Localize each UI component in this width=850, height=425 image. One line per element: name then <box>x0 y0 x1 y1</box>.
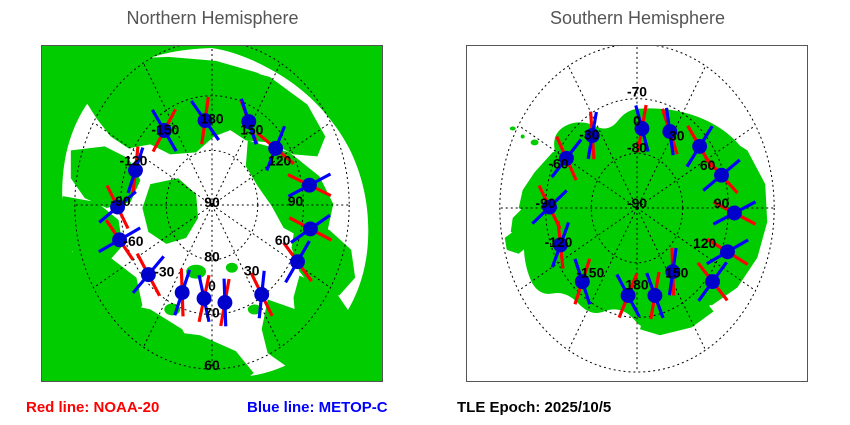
page-title-south: Southern Hemisphere <box>425 8 850 29</box>
satellite-marker <box>647 288 662 303</box>
satellite-marker <box>692 139 707 154</box>
longitude-label: 150 <box>240 121 263 137</box>
satellite-marker <box>302 178 317 193</box>
longitude-label: 120 <box>268 152 291 168</box>
south-polar-plot: -90-80-70-600306090120150180-150-120-90-… <box>467 46 807 381</box>
longitude-label: -30 <box>154 264 174 280</box>
longitude-label: -30 <box>579 126 599 142</box>
satellite-marker <box>175 285 190 300</box>
legend-red-line-noaa20: Red line: NOAA-20 <box>26 399 159 416</box>
longitude-label: -60 <box>123 233 143 249</box>
longitude-label: 30 <box>669 127 685 143</box>
satellite-marker <box>290 254 305 269</box>
panel-southern-hemisphere: Southern Hemisphere <box>425 0 850 390</box>
latitude-label: -70 <box>627 84 647 100</box>
longitude-label: 150 <box>665 265 688 281</box>
north-polar-plot: 908070600306090120150180-150-120-90-60-3… <box>42 46 382 381</box>
legend-blue-line-metopc: Blue line: METOP-C <box>247 399 388 416</box>
satellite-marker <box>720 244 735 259</box>
longitude-label: 60 <box>700 157 716 173</box>
latitude-label: -90 <box>627 195 647 211</box>
polar-tracks-figure: Northern Hemisphere <box>0 0 850 425</box>
plot-frame-north: 908070600306090120150180-150-120-90-60-3… <box>41 45 383 382</box>
legend: Red line: NOAA-20 Blue line: METOP-C TLE… <box>0 392 850 425</box>
longitude-label: -60 <box>548 155 568 171</box>
latitude-label: 80 <box>204 249 220 265</box>
longitude-label: 0 <box>633 113 641 129</box>
longitude-label: -120 <box>120 152 148 168</box>
page-title-north: Northern Hemisphere <box>0 8 425 29</box>
latitude-label: 70 <box>204 304 220 320</box>
latitude-label: 60 <box>204 357 220 373</box>
longitude-label: -150 <box>151 121 179 137</box>
longitude-label: -90 <box>110 193 130 209</box>
longitude-label: -90 <box>535 195 555 211</box>
panel-northern-hemisphere: Northern Hemisphere <box>0 0 425 390</box>
latitude-label: -80 <box>627 139 647 155</box>
satellite-marker <box>303 221 318 236</box>
longitude-label: 180 <box>200 111 223 127</box>
longitude-label: 180 <box>625 277 648 293</box>
longitude-label: 90 <box>288 193 304 209</box>
legend-tle-epoch: TLE Epoch: 2025/10/5 <box>457 399 611 416</box>
longitude-label: -150 <box>576 265 604 281</box>
satellite-marker <box>254 287 269 302</box>
longitude-label: 30 <box>244 263 260 279</box>
longitude-label: 0 <box>208 278 216 294</box>
satellite-marker <box>705 274 720 289</box>
satellite-marker <box>714 168 729 183</box>
plot-frame-south: -90-80-70-600306090120150180-150-120-90-… <box>466 45 808 382</box>
latitude-label: 90 <box>204 194 220 210</box>
longitude-label: 120 <box>693 235 716 251</box>
longitude-label: -120 <box>545 234 573 250</box>
longitude-label: 60 <box>275 232 291 248</box>
longitude-label: 90 <box>714 195 730 211</box>
